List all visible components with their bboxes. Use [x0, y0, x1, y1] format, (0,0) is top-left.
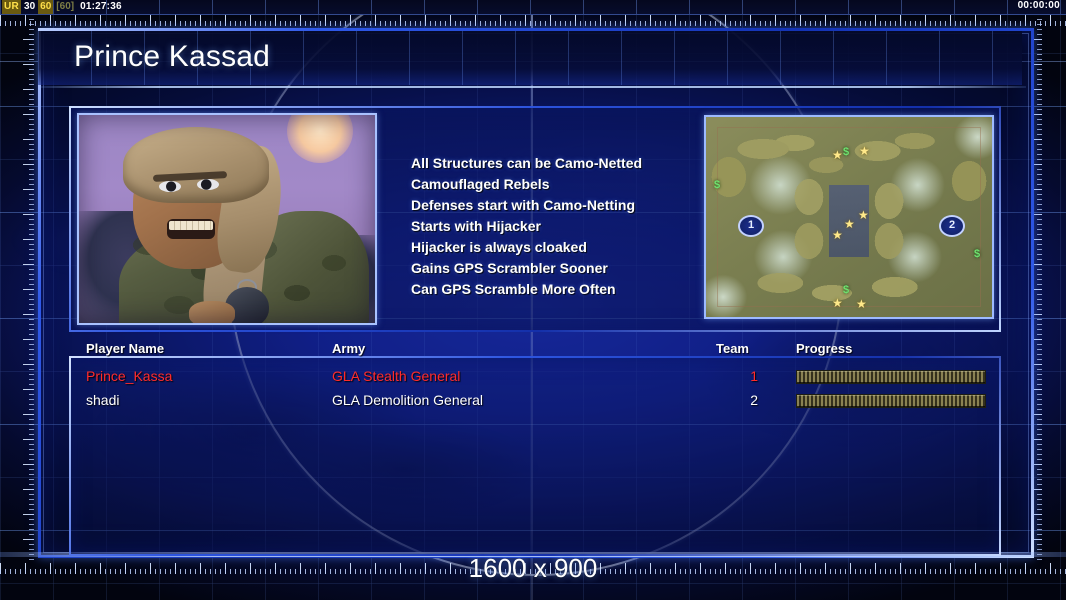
performance-readout: UR 30 60 [60] 01:27:36 [2, 0, 122, 14]
fps-cap: [60] [56, 0, 74, 14]
start-position-marker: 2 [939, 215, 965, 237]
supply-star-icon: ★ [832, 229, 843, 241]
start-position-marker: 1 [738, 215, 764, 237]
supply-star-icon: ★ [856, 298, 867, 310]
table-row: shadi GLA Demolition General 2 [86, 388, 991, 412]
player-name: shadi [86, 388, 119, 412]
bonus-item: Camouflaged Rebels [411, 175, 701, 194]
bonus-item: Starts with Hijacker [411, 217, 701, 236]
general-bonus-list: All Structures can be Camo-Netted Camouf… [411, 154, 701, 301]
column-header-player-name: Player Name [86, 341, 164, 357]
bonus-item: All Structures can be Camo-Netted [411, 154, 701, 173]
match-timer: 00:00:00 [1018, 0, 1060, 14]
supply-star-icon: ★ [858, 209, 869, 221]
player-army: GLA Demolition General [332, 388, 483, 412]
player-progress-bar [796, 394, 986, 408]
cash-marker-icon: $ [974, 249, 980, 260]
resolution-label: 1600 x 900 [0, 551, 1066, 585]
cash-marker-icon: $ [843, 285, 849, 296]
status-bar-grid [0, 0, 1066, 14]
table-row: Prince_Kassa GLA Stealth General 1 [86, 364, 991, 388]
ruler-top [0, 14, 1066, 27]
status-bar: UR 30 60 [60] 01:27:36 00:00:00 [0, 0, 1066, 15]
supply-star-icon: ★ [859, 145, 870, 157]
bonus-items: All Structures can be Camo-Netted Camouf… [411, 154, 701, 299]
session-timer: 01:27:36 [80, 0, 122, 14]
bonus-item: Hijacker is always cloaked [411, 238, 701, 257]
portrait-vignette [79, 115, 375, 323]
column-header-team: Team [716, 341, 749, 357]
fps-current: 30 [24, 0, 35, 14]
bonus-item: Defenses start with Camo-Netting [411, 196, 701, 215]
map-preview: ★ ★ ★ ★ ★ ★ ★ $ $ $ $ 1 2 [704, 115, 994, 319]
bonus-item: Gains GPS Scrambler Sooner [411, 259, 701, 278]
column-header-army: Army [332, 341, 365, 357]
ur-badge: UR [2, 0, 21, 14]
fps-target: 60 [38, 0, 53, 14]
column-header-progress: Progress [796, 341, 852, 357]
player-team: 2 [738, 388, 758, 412]
cash-marker-icon: $ [714, 180, 720, 191]
player-name: Prince_Kassa [86, 364, 172, 388]
player-team: 1 [738, 364, 758, 388]
supply-star-icon: ★ [832, 149, 843, 161]
player-army: GLA Stealth General [332, 364, 460, 388]
player-table-body: Prince_Kassa GLA Stealth General 1 shadi… [86, 364, 991, 412]
title-divider [40, 86, 1026, 88]
player-progress-bar [796, 370, 986, 384]
page-title: Prince Kassad [74, 38, 270, 76]
ruler-left [22, 14, 35, 562]
cash-marker-icon: $ [843, 147, 849, 158]
supply-star-icon: ★ [832, 297, 843, 309]
general-portrait [77, 113, 377, 325]
loading-screen: UR 30 60 [60] 01:27:36 00:00:00 Prince K… [0, 0, 1066, 600]
player-table-header: Player Name Army Team Progress [86, 341, 991, 357]
supply-star-icon: ★ [844, 218, 855, 230]
bonus-item: Can GPS Scramble More Often [411, 280, 701, 299]
